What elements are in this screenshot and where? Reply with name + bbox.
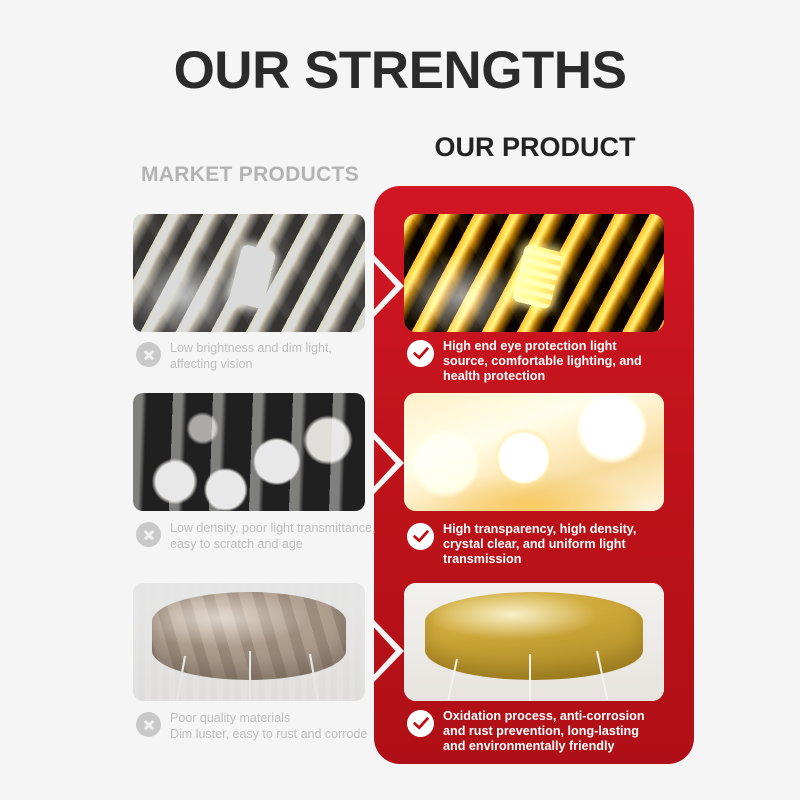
caption-text: Oxidation process, anti-corrosion and ru… [443,709,645,754]
chandelier-branches-photo [133,214,365,332]
caption-line: Dim luster, easy to rust and corrode [170,727,367,741]
caption-line: transmission [443,552,521,566]
check-circle-icon [407,523,434,550]
caption-text: High transparency, high density, crystal… [443,522,636,567]
wire-shape [529,654,531,701]
rusted-canopy-photo [133,583,365,701]
canopy-shape [425,592,643,679]
caption-line: High transparency, high density, [443,522,636,536]
caption-line: Low density, poor light transmittance, [170,521,375,535]
our-image-material-finish [404,583,664,701]
glass-droplets-photo [133,393,365,511]
x-circle-icon [136,712,161,737]
caption-line: Poor quality materials [170,711,290,725]
caption-line: Oxidation process, anti-corrosion [443,709,645,723]
bulb-shape [228,244,276,310]
caption-line: crystal clear, and uniform light [443,537,626,551]
caption-line: easy to scratch and age [170,537,303,551]
market-products-heading: MARKET PRODUCTS [141,164,359,185]
market-caption-material-finish: Poor quality materials Dim luster, easy … [136,711,384,743]
crystal-droplets-photo [404,393,664,511]
check-circle-icon [407,710,434,737]
caption-line: and environmentally friendly [443,739,614,753]
our-image-light-source [404,214,664,332]
caption-line: health protection [443,369,545,383]
caption-line: High end eye protection light [443,339,617,353]
market-caption-light-source: Low brightness and dim light, affecting … [136,341,384,373]
market-image-light-source [133,214,365,332]
led-bulb-shape [512,243,564,310]
our-image-crystal-quality [404,393,664,511]
x-circle-icon [136,342,161,367]
caption-text: Low density, poor light transmittance, e… [170,521,375,553]
caption-text: Poor quality materials Dim luster, easy … [170,711,367,743]
page-title: OUR STRENGTHS [0,44,800,97]
gold-canopy-photo [404,583,664,701]
infographic-poster: OUR STRENGTHS MARKET PRODUCTS OUR PRODUC… [0,0,800,800]
wire-shape [249,651,251,701]
caption-line: affecting vision [170,357,252,371]
our-caption-light-source: High end eye protection light source, co… [407,339,673,384]
our-caption-crystal-quality: High transparency, high density, crystal… [407,522,673,567]
caption-line: Low brightness and dim light, [170,341,332,355]
x-circle-icon [136,522,161,547]
caption-text: High end eye protection light source, co… [443,339,642,384]
chandelier-branches-photo [404,214,664,332]
check-circle-icon [407,340,434,367]
market-image-crystal-quality [133,393,365,511]
market-caption-crystal-quality: Low density, poor light transmittance, e… [136,521,384,553]
caption-text: Low brightness and dim light, affecting … [170,341,332,373]
our-caption-material-finish: Oxidation process, anti-corrosion and ru… [407,709,673,754]
our-product-heading: OUR PRODUCT [385,134,685,161]
caption-line: and rust prevention, long-lasting [443,724,639,738]
market-image-material-finish [133,583,365,701]
caption-line: source, comfortable lighting, and [443,354,642,368]
